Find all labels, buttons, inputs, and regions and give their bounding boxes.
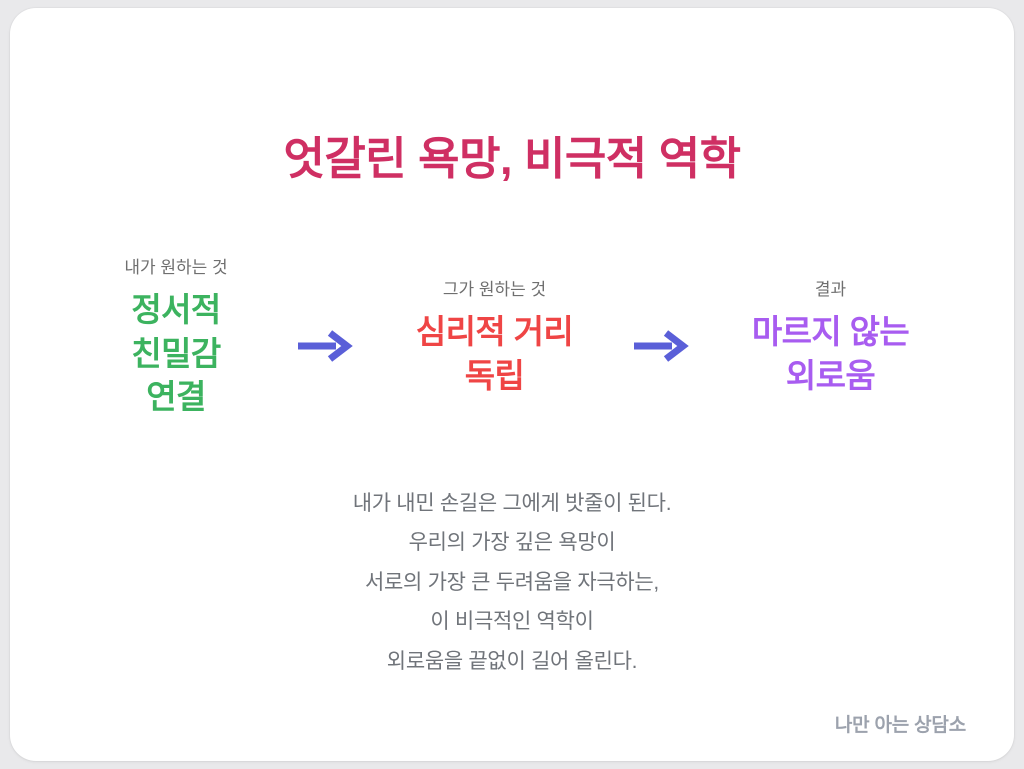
slide-card: 엇갈린 욕망, 비극적 역학 내가 원하는 것 정서적 친밀감 연결 그가 원하… [10,8,1014,761]
arrow-right-icon-2 [620,326,706,366]
flow-value-line: 정서적 [131,288,220,332]
flow-value-line: 마르지 않는 [752,310,909,354]
arrow-right-icon-1 [284,326,370,366]
flow-column-value: 심리적 거리 독립 [416,310,573,397]
footer-brand: 나만 아는 상담소 [835,710,966,737]
body-line: 외로움을 끝없이 길어 올린다. [10,642,1014,681]
flow-value-line: 독립 [416,354,573,398]
body-paragraph: 내가 내민 손길은 그에게 밧줄이 된다. 우리의 가장 깊은 욕망이 서로의 … [10,484,1014,681]
flow-column-label: 결과 [815,279,846,301]
flow-value-line: 외로움 [752,354,909,398]
flow-column-my-desire: 내가 원하는 것 정서적 친밀감 연결 [69,257,284,419]
page-title: 엇갈린 욕망, 비극적 역학 [10,132,1014,186]
flow-column-value: 마르지 않는 외로움 [752,310,909,397]
flow-column-result: 결과 마르지 않는 외로움 [706,279,956,397]
flow-column-value: 정서적 친밀감 연결 [131,288,220,419]
flow-column-label: 그가 원하는 것 [443,279,546,301]
body-line: 우리의 가장 깊은 욕망이 [10,523,1014,562]
body-line: 서로의 가장 큰 두려움을 자극하는, [10,563,1014,602]
flow-value-line: 연결 [131,375,220,419]
flow-diagram: 내가 원하는 것 정서적 친밀감 연결 그가 원하는 것 심리적 거리 독립 [10,238,1014,438]
flow-column-label: 내가 원하는 것 [124,257,227,279]
body-line: 내가 내민 손길은 그에게 밧줄이 된다. [10,484,1014,523]
flow-value-line: 심리적 거리 [416,310,573,354]
flow-column-his-desire: 그가 원하는 것 심리적 거리 독립 [370,279,620,397]
body-line: 이 비극적인 역학이 [10,602,1014,641]
flow-value-line: 친밀감 [131,332,220,376]
